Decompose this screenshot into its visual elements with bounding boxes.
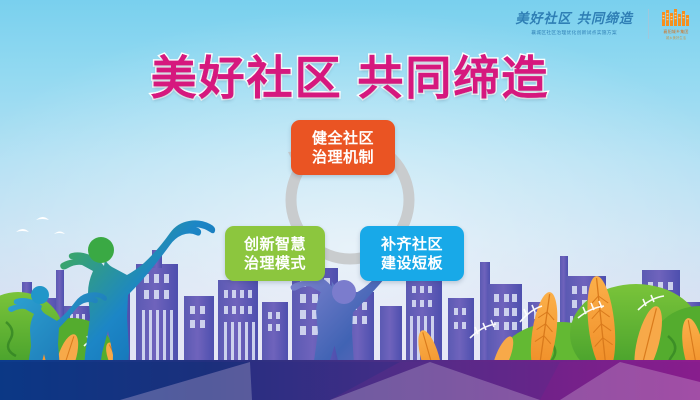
header-slogan-block: 美好社区 共同缔造 襄城区社区治理优化创新试点实施方案: [515, 13, 641, 36]
page-title: 美好社区 共同缔造: [0, 42, 700, 108]
poster-canvas: 美好社区 共同缔造 襄城区社区治理优化创新试点实施方案: [0, 0, 700, 400]
node-left-line1: 创新智慧: [244, 235, 306, 254]
node-health-governance[interactable]: 健全社区 治理机制: [291, 120, 395, 175]
ground-plane: [0, 360, 700, 400]
node-left-line2: 治理模式: [244, 254, 306, 273]
cycle-diagram: 健全社区 治理机制 创新智慧 治理模式 补齐社区 建设短板: [230, 110, 490, 290]
building-logo-icon: [661, 9, 691, 28]
brand-sub: 城乡美好生活: [666, 35, 686, 40]
node-fill-gaps[interactable]: 补齐社区 建设短板: [360, 226, 464, 281]
node-smart-governance[interactable]: 创新智慧 治理模式: [225, 226, 325, 281]
node-right-line1: 补齐社区: [381, 235, 443, 254]
bird-icon-group: [16, 217, 65, 234]
header-logo: 美好社区 共同缔造 襄城区社区治理优化创新试点实施方案: [515, 4, 696, 44]
header-divider: [648, 9, 649, 39]
header-brand: 襄阳城乡集团 城乡美好生活: [656, 9, 696, 40]
header-subtitle: 襄城区社区治理优化创新试点实施方案: [531, 29, 617, 36]
node-top-line1: 健全社区: [312, 129, 374, 148]
node-top-line2: 治理机制: [312, 148, 374, 167]
node-right-line2: 建设短板: [381, 254, 443, 273]
header-slogan: 美好社区 共同缔造: [515, 12, 633, 27]
